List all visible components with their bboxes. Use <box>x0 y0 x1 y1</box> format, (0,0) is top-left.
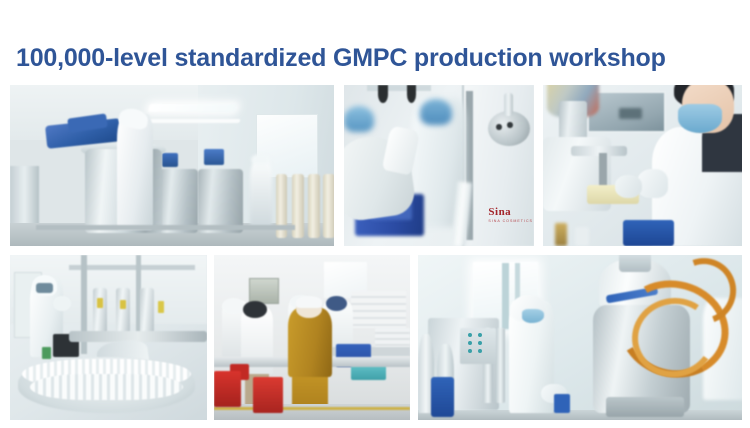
platform-rail <box>36 225 295 230</box>
valve-stem <box>504 93 514 116</box>
yellow-indicator <box>120 300 126 310</box>
workshop-photo-6-water-treatment-emulsifier[interactable] <box>418 255 742 420</box>
amber-vial <box>555 223 567 246</box>
blue-handle <box>554 394 570 414</box>
blue-pressure-tank <box>431 377 454 417</box>
red-stool <box>253 377 282 413</box>
red-stool <box>214 371 241 407</box>
ceiling-light <box>148 104 237 112</box>
workshop-photo-4-rotary-filler[interactable] <box>10 255 207 420</box>
worker-blue-cap <box>344 106 374 132</box>
page-title: 100,000-level standardized GMPC producti… <box>16 44 666 73</box>
ceiling-light-secondary <box>142 119 240 123</box>
gloved-hand <box>615 175 643 198</box>
floor-safety-stripe <box>214 407 410 410</box>
mixing-tank <box>198 169 243 233</box>
worker-figure <box>117 114 153 230</box>
blue-motor <box>162 153 178 167</box>
machine-frame-beam <box>69 265 195 270</box>
green-container <box>42 347 52 359</box>
filter-column <box>323 174 334 238</box>
ro-membrane-housing <box>496 328 506 404</box>
emulsifier-cap <box>619 255 651 272</box>
carton-stack <box>351 291 406 327</box>
ro-indicator-dot <box>468 333 472 337</box>
mixing-tank <box>159 169 198 233</box>
blue-motor <box>204 149 223 165</box>
filling-head <box>93 288 107 334</box>
worker-visor <box>36 283 54 293</box>
clear-vial <box>575 227 589 246</box>
vessel-stand <box>606 397 684 417</box>
worker-cap <box>296 296 321 308</box>
workshop-photo-3-technician[interactable] <box>543 85 742 246</box>
yellow-indicator <box>158 301 164 313</box>
filling-head <box>116 288 130 334</box>
sina-watermark: Sina SINA COSMETICS <box>488 207 534 236</box>
floor <box>418 410 742 420</box>
workshop-photo-1-mixing-tanks[interactable] <box>10 85 334 246</box>
window-mullion <box>502 263 508 329</box>
filling-head <box>140 288 154 334</box>
blue-tote-box <box>623 220 675 246</box>
worker-hair <box>243 301 267 318</box>
worker-blue-cap <box>420 99 452 125</box>
ro-indicator-dot <box>478 349 482 353</box>
filling-nozzle <box>407 85 417 103</box>
window-object <box>619 108 643 119</box>
watermark-subtext: SINA COSMETICS <box>488 219 534 223</box>
worker-mask <box>522 309 545 322</box>
workshop-photo-2-bottle-filling[interactable]: Sina SINA COSMETICS <box>344 85 534 246</box>
filter-column <box>308 174 320 238</box>
valve-port <box>496 124 502 130</box>
second-worker-figure <box>250 159 273 227</box>
yellow-indicator <box>97 298 103 308</box>
stainless-valve <box>488 111 530 146</box>
page-root: 100,000-level standardized GMPC producti… <box>0 0 750 428</box>
watermark-text: Sina <box>488 207 534 218</box>
overhead-bar <box>367 85 432 91</box>
mustard-uniform-worker <box>288 308 331 377</box>
workshop-photo-5-packaging-line[interactable] <box>214 255 410 420</box>
filling-nozzle <box>378 85 388 103</box>
ro-indicator-dot <box>478 341 482 345</box>
dosing-nozzle <box>599 153 607 188</box>
white-bottle-row <box>30 374 184 400</box>
ro-indicator-dot <box>478 333 482 337</box>
